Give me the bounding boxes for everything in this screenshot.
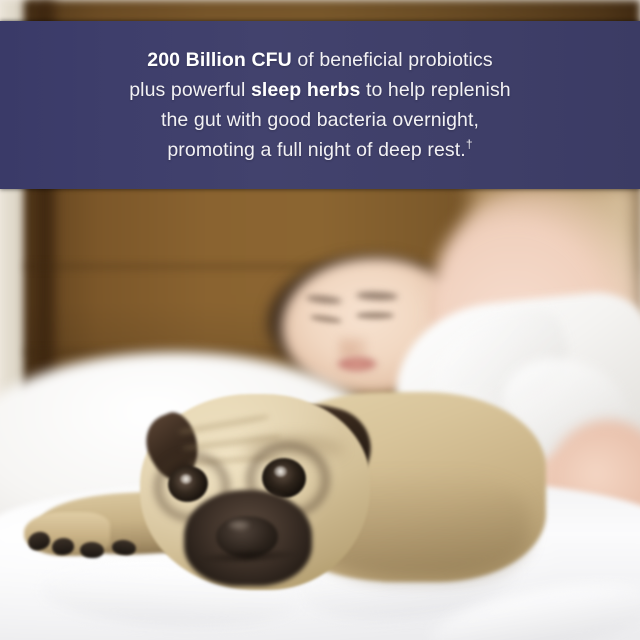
footnote-dagger: † (466, 138, 473, 152)
advertisement-image: 200 Billion CFU of beneficial probiotics… (0, 0, 640, 640)
banner-line-2-pre: plus powerful (129, 79, 251, 101)
banner-line-3: the gut with good bacteria overnight, (129, 105, 511, 135)
pug-nose-highlight (228, 520, 250, 530)
woman-lips (336, 356, 378, 372)
woman-eye-right-closed (356, 312, 394, 319)
woman-nose (338, 336, 368, 358)
pug-eye-glint-right (274, 466, 287, 477)
banner-line-4: promoting a full night of deep rest.† (129, 135, 511, 165)
banner-line-2-post: to help replenish (360, 79, 510, 101)
banner-line-4-text: promoting a full night of deep rest. (167, 139, 465, 161)
banner-line-1-bold: 200 Billion CFU (147, 49, 292, 71)
pug-eye-glint-left (180, 474, 192, 484)
banner-line-2: plus powerful sleep herbs to help replen… (129, 75, 511, 105)
banner-copy: 200 Billion CFU of beneficial probiotics… (105, 45, 535, 165)
pug-claw (80, 542, 105, 559)
banner-line-2-bold: sleep herbs (251, 79, 360, 101)
banner-line-1-rest: of beneficial probiotics (292, 49, 493, 71)
banner-line-1: 200 Billion CFU of beneficial probiotics (129, 45, 511, 75)
marketing-banner: 200 Billion CFU of beneficial probiotics… (0, 21, 640, 189)
